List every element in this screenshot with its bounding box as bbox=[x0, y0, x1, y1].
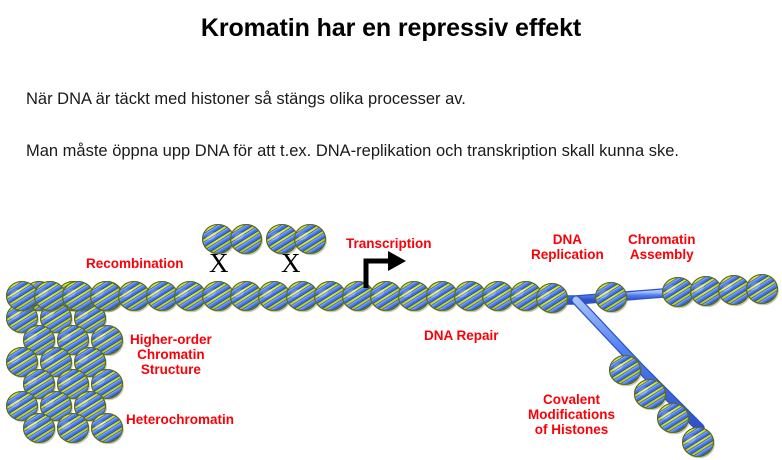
page-title: Kromatin har en repressiv effekt bbox=[0, 14, 782, 43]
label-higher-order-chromatin-structure: Higher-order Chromatin Structure bbox=[130, 332, 212, 377]
chromatin-assembly-branch bbox=[589, 269, 782, 318]
body-text-line-2: Man måste öppna upp DNA för att t.ex. DN… bbox=[26, 142, 679, 161]
label-heterochromatin: Heterochromatin bbox=[126, 412, 234, 427]
covalent-modification-branch bbox=[603, 350, 720, 460]
body-text-line-1: När DNA är täckt med histoner så stängs … bbox=[26, 90, 466, 109]
label-recombination: Recombination bbox=[86, 256, 184, 271]
chromatin-processes-diagram: Recombination Higher-order Chromatin Str… bbox=[0, 200, 782, 460]
label-dna-replication: DNA Replication bbox=[531, 232, 604, 262]
label-chromatin-assembly: Chromatin Assembly bbox=[628, 232, 696, 262]
label-covalent-modifications-of-histones: Covalent Modifications of Histones bbox=[528, 392, 615, 437]
label-transcription: Transcription bbox=[346, 236, 432, 251]
crossover-x-mark-2: X bbox=[281, 250, 301, 277]
crossover-x-mark-1: X bbox=[209, 250, 229, 277]
label-dna-repair: DNA Repair bbox=[424, 328, 499, 343]
